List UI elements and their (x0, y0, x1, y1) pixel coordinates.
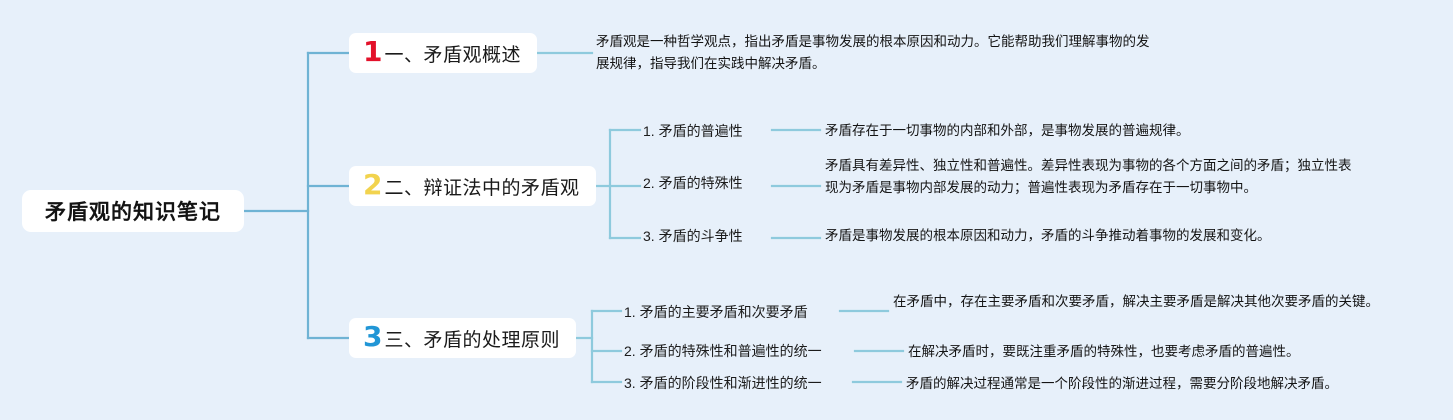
sub-node-2-1-description: 矛盾存在于一切事物的内部和外部，是事物发展的普遍规律。 (825, 120, 1345, 142)
sub-node-3-3[interactable]: 3. 矛盾的阶段性和渐进性的统一 (624, 373, 822, 393)
branch-node-2[interactable]: 2 二、辩证法中的矛盾观 (349, 166, 596, 206)
branch-number-1: 1 (363, 38, 382, 66)
branch-node-1[interactable]: 1 一、矛盾观概述 (349, 33, 537, 73)
branch-label-1: 一、矛盾观概述 (384, 40, 521, 67)
sub-node-3-3-description: 矛盾的解决过程通常是一个阶段性的渐进过程，需要分阶段地解决矛盾。 (906, 373, 1376, 395)
branch-label-2: 二、辩证法中的矛盾观 (384, 173, 579, 200)
sub-node-2-3-description: 矛盾是事物发展的根本原因和动力，矛盾的斗争推动着事物的发展和变化。 (825, 225, 1345, 247)
root-node[interactable]: 矛盾观的知识笔记 (22, 190, 244, 232)
sub-node-2-1[interactable]: 1. 矛盾的普遍性 (643, 121, 743, 141)
mindmap-canvas: 矛盾观的知识笔记 1 一、矛盾观概述 矛盾观是一种哲学观点，指出矛盾是事物发展的… (0, 0, 1453, 420)
branch-node-3[interactable]: 3 三、矛盾的处理原则 (349, 318, 576, 358)
sub-node-3-2[interactable]: 2. 矛盾的特殊性和普遍性的统一 (624, 341, 822, 361)
branch-label-3: 三、矛盾的处理原则 (384, 325, 560, 352)
root-node-label: 矛盾观的知识笔记 (45, 196, 221, 226)
sub-node-2-2[interactable]: 2. 矛盾的特殊性 (643, 173, 743, 193)
sub-node-2-3[interactable]: 3. 矛盾的斗争性 (643, 226, 743, 246)
branch-1-description: 矛盾观是一种哲学观点，指出矛盾是事物发展的根本原因和动力。它能帮助我们理解事物的… (596, 31, 1156, 76)
sub-node-3-1[interactable]: 1. 矛盾的主要矛盾和次要矛盾 (624, 302, 808, 322)
sub-node-3-2-description: 在解决矛盾时，要既注重矛盾的特殊性，也要考虑矛盾的普遍性。 (908, 341, 1388, 363)
sub-node-3-1-description: 在矛盾中，存在主要矛盾和次要矛盾，解决主要矛盾是解决其他次要矛盾的关键。 (893, 291, 1393, 313)
sub-node-2-2-description: 矛盾具有差异性、独立性和普遍性。差异性表现为事物的各个方面之间的矛盾；独立性表现… (825, 155, 1355, 200)
branch-number-2: 2 (363, 171, 382, 199)
branch-number-3: 3 (363, 323, 382, 351)
